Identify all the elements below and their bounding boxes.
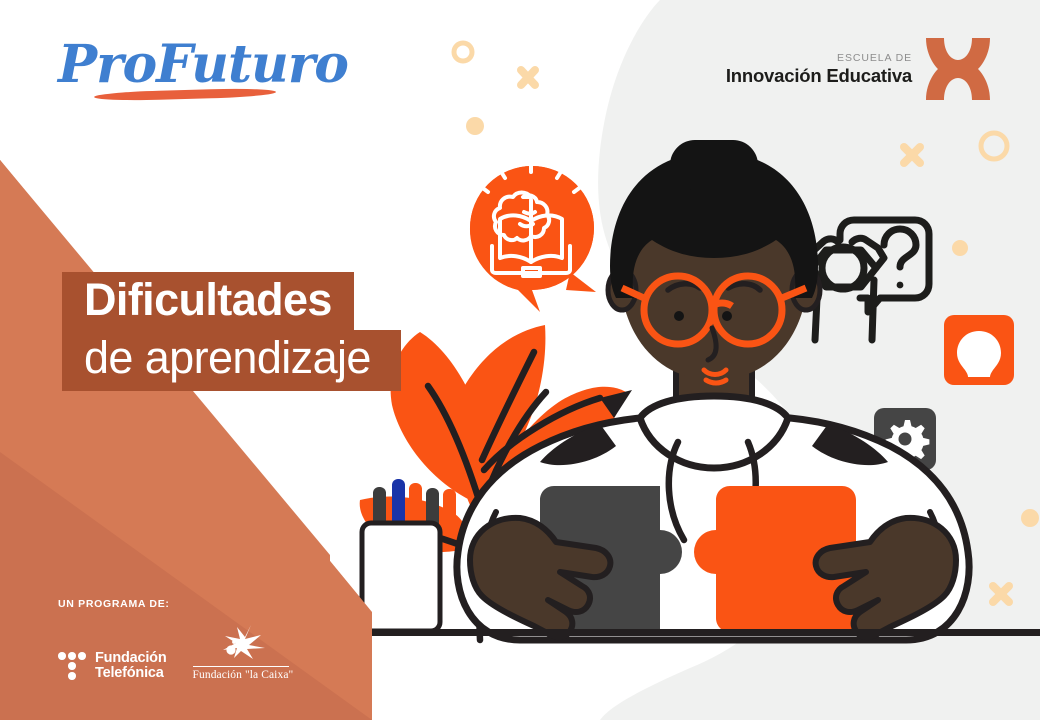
footer-sponsors: UN PROGRAMA DE: Fundación Telefónica (58, 598, 348, 681)
caixa-name: Fundación "la Caixa" (193, 666, 289, 681)
fundacion-la-caixa-logo[interactable]: Fundación "la Caixa" (193, 624, 289, 681)
eie-text-block: ESCUELA DE Innovación Educativa (726, 53, 912, 85)
slide-canvas: ProFuturo ESCUELA DE Innovación Educativ… (0, 0, 1040, 720)
eie-kicker: ESCUELA DE (726, 53, 912, 64)
sponsor-logos: Fundación Telefónica Fundación "la Caixa… (58, 624, 348, 681)
eie-name: Innovación Educativa (726, 67, 912, 86)
program-label: UN PROGRAMA DE: (58, 598, 348, 610)
title-line-2: de aprendizaje (62, 330, 401, 391)
x-mark-icon (924, 38, 992, 100)
escuela-innovacion-educativa-logo[interactable]: ESCUELA DE Innovación Educativa (726, 38, 992, 100)
caixa-star-icon (193, 624, 289, 660)
fundacion-telefonica-logo[interactable]: Fundación Telefónica (58, 651, 167, 681)
telefonica-dot-mark-icon (58, 651, 86, 681)
profuturo-wordmark: ProFuturo (58, 38, 288, 92)
telefonica-name: Fundación Telefónica (95, 651, 167, 681)
title-line-1: Dificultades (62, 272, 354, 331)
profuturo-logo[interactable]: ProFuturo (58, 38, 288, 108)
page-title: Dificultades de aprendizaje (62, 272, 401, 391)
